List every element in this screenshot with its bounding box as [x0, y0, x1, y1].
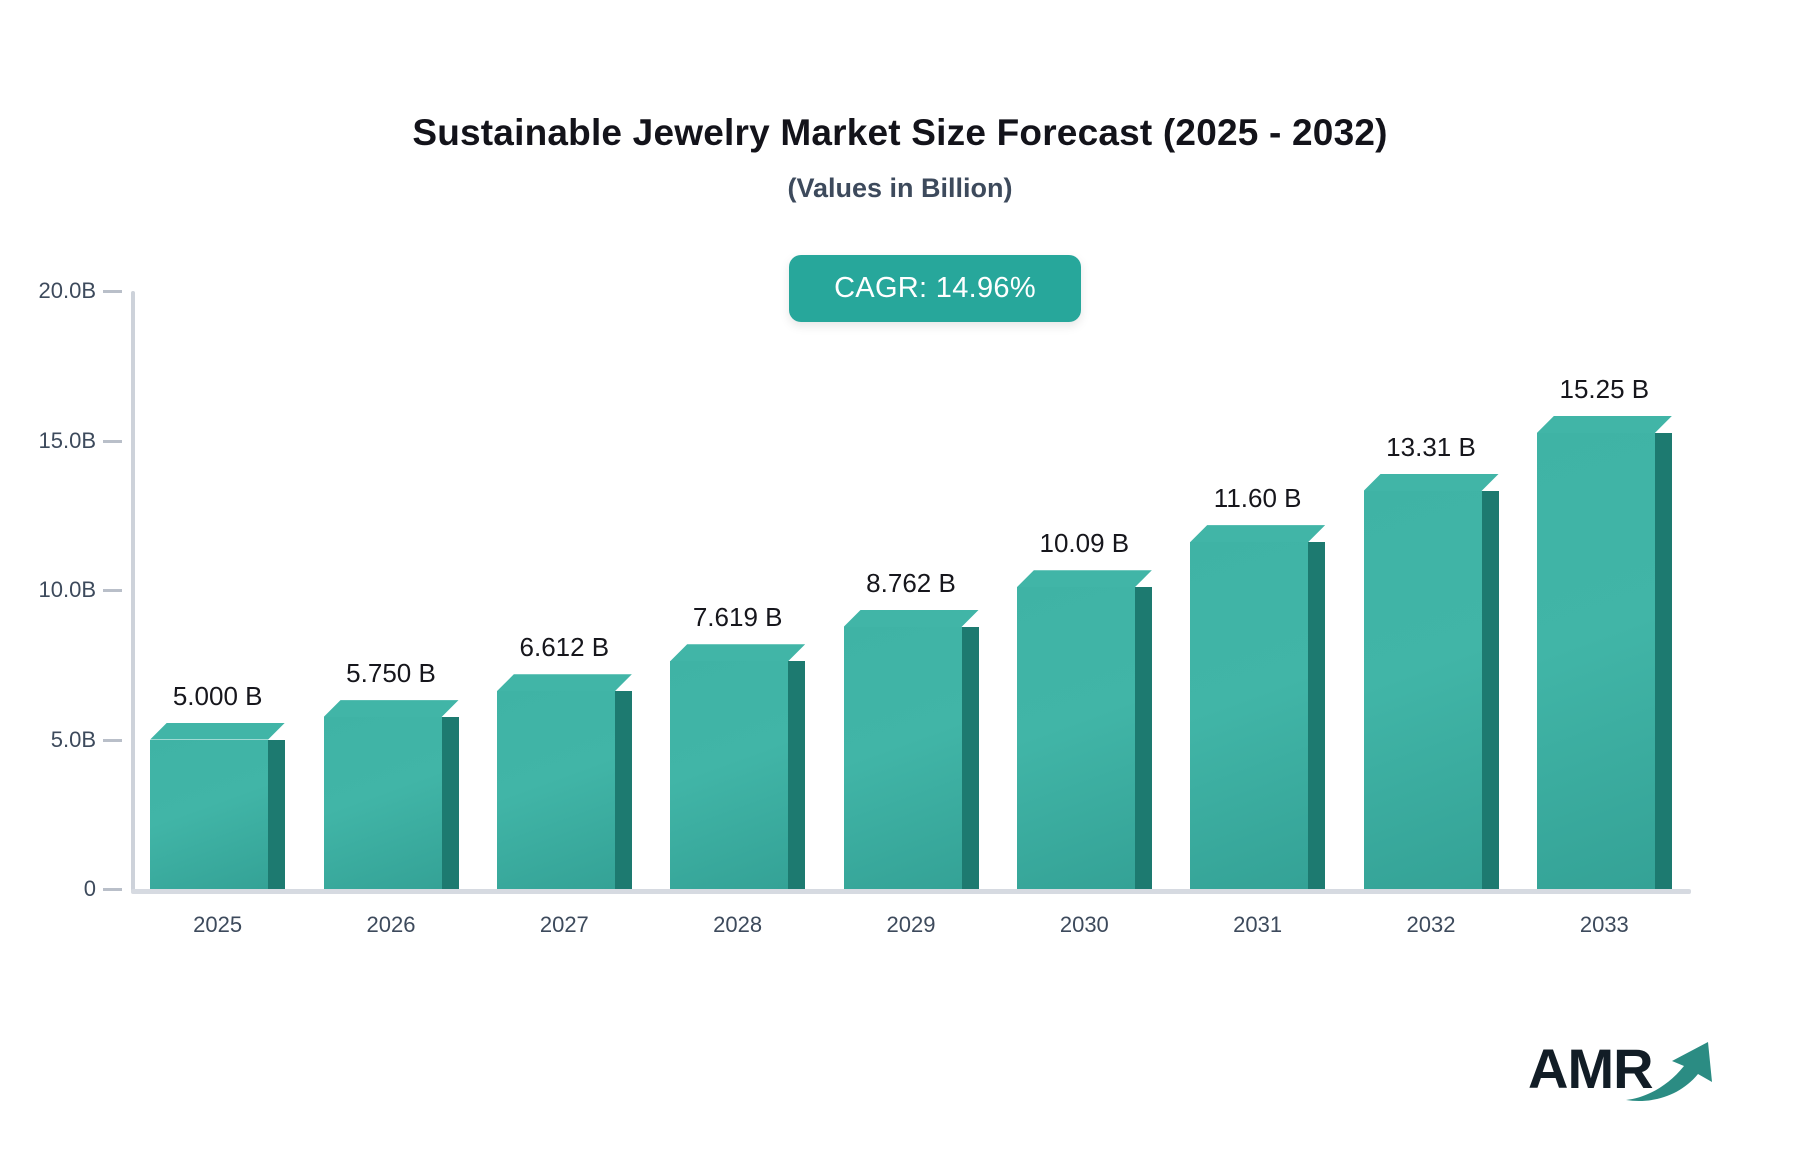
- bar-2033[interactable]: 15.25 B: [1537, 416, 1672, 889]
- y-axis-tick-mark: [103, 888, 122, 891]
- bar-value-label: 11.60 B: [1214, 483, 1302, 514]
- bar-2029[interactable]: 8.762 B: [844, 610, 979, 889]
- x-axis-tick-label: 2026: [367, 912, 416, 938]
- bar-2031[interactable]: 11.60 B: [1190, 525, 1325, 889]
- x-axis-tick-label: 2033: [1580, 912, 1629, 938]
- x-axis-tick-label: 2025: [193, 912, 242, 938]
- bar-front-face: [844, 627, 962, 889]
- growth-arrow-icon: [1624, 1038, 1720, 1104]
- bar-top-face: [1190, 525, 1325, 542]
- bar-chart: 05.0B10.0B15.0B20.0B 5.000 B5.750 B6.612…: [0, 0, 1800, 1156]
- bar-2025[interactable]: 5.000 B: [150, 723, 285, 890]
- bar-front-face: [1190, 542, 1308, 889]
- bar-top-face: [497, 674, 632, 691]
- bar-side-face: [1655, 433, 1672, 889]
- bar-top-face: [670, 644, 805, 661]
- x-axis-tick-label: 2031: [1233, 912, 1282, 938]
- bar-top-face: [1017, 570, 1152, 587]
- bar-front-face: [1017, 587, 1135, 889]
- bar-2026[interactable]: 5.750 B: [324, 700, 459, 889]
- y-axis-tick-label: 15.0B: [39, 428, 97, 454]
- bar-value-label: 10.09 B: [1040, 528, 1130, 559]
- x-axis-tick-label: 2030: [1060, 912, 1109, 938]
- bar-2028[interactable]: 7.619 B: [670, 644, 805, 889]
- bar-side-face: [615, 691, 632, 889]
- bar-front-face: [670, 661, 788, 889]
- y-axis-tick-label: 0: [84, 876, 96, 902]
- y-axis-tick-mark: [103, 440, 122, 443]
- x-axis-tick-label: 2032: [1407, 912, 1456, 938]
- bar-front-face: [497, 691, 615, 889]
- y-axis-tick-mark: [103, 589, 122, 592]
- bar-side-face: [442, 717, 459, 889]
- bar-top-face: [844, 610, 979, 627]
- bar-value-label: 5.000 B: [173, 681, 263, 712]
- bar-value-label: 7.619 B: [693, 602, 783, 633]
- bar-front-face: [1364, 491, 1482, 889]
- bar-value-label: 6.612 B: [520, 632, 610, 663]
- bar-front-face: [1537, 433, 1655, 889]
- amr-logo: AMR: [1528, 1032, 1718, 1112]
- y-axis-tick-mark: [103, 739, 122, 742]
- bar-2030[interactable]: 10.09 B: [1017, 570, 1152, 889]
- bar-top-face: [150, 723, 285, 740]
- y-axis-tick-label: 10.0B: [39, 577, 97, 603]
- bar-value-label: 8.762 B: [866, 568, 956, 599]
- y-axis-tick-label: 20.0B: [39, 278, 97, 304]
- bar-side-face: [268, 740, 285, 890]
- bar-top-face: [1537, 416, 1672, 433]
- y-axis-tick-mark: [103, 290, 122, 293]
- bar-value-label: 15.25 B: [1560, 374, 1650, 405]
- bar-value-label: 5.750 B: [346, 658, 436, 689]
- bar-top-face: [324, 700, 459, 717]
- y-axis-line: [131, 291, 135, 892]
- y-axis-tick-label: 5.0B: [51, 727, 96, 753]
- bar-front-face: [150, 740, 268, 890]
- x-axis-tick-label: 2027: [540, 912, 589, 938]
- bar-value-label: 13.31 B: [1386, 432, 1476, 463]
- bar-top-face: [1364, 474, 1499, 491]
- bar-side-face: [962, 627, 979, 889]
- bar-side-face: [1308, 542, 1325, 889]
- bar-2032[interactable]: 13.31 B: [1364, 474, 1499, 889]
- x-axis-line: [131, 889, 1691, 894]
- x-axis-tick-label: 2029: [887, 912, 936, 938]
- bar-side-face: [1482, 491, 1499, 889]
- bar-front-face: [324, 717, 442, 889]
- bar-side-face: [1135, 587, 1152, 889]
- bar-2027[interactable]: 6.612 B: [497, 674, 632, 889]
- x-axis-tick-label: 2028: [713, 912, 762, 938]
- bar-side-face: [788, 661, 805, 889]
